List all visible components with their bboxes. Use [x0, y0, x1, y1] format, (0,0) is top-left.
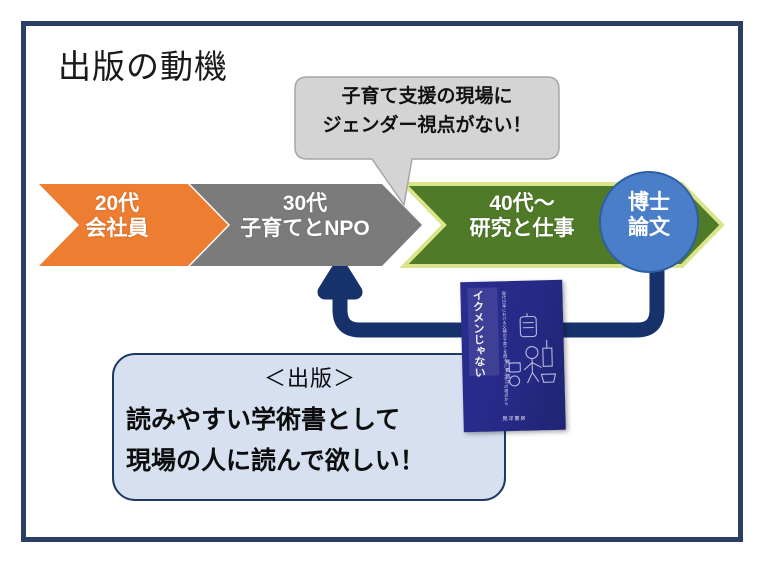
chevron-label-20s-line2: 会社員 — [52, 217, 182, 242]
chevron-label-30s: 30代 子育てとNPO — [210, 192, 400, 242]
book-title: イクメンじゃない — [469, 290, 485, 376]
chevron-label-40s-line2: 研究と仕事 — [432, 217, 612, 242]
book-title-main: イクメンじゃない — [471, 290, 485, 378]
chevron-label-30s-line2: 子育てとNPO — [210, 217, 400, 242]
doctoral-thesis-badge-label: 博士 論文 — [604, 190, 694, 240]
publish-callout-text: ＜出版＞ 読みやすい学術書として 現場の人に読んで欲しい！ — [120, 362, 500, 481]
book-cover-image: イクメンじゃない 現代日本における父親の子育てを問う ジェンダーの視点から 巽 … — [460, 280, 566, 432]
book-cover-illustration — [504, 310, 562, 397]
chevron-label-20s-line1: 20代 — [52, 192, 182, 217]
speech-bubble-line1: 子育て支援の現場に — [305, 82, 549, 111]
badge-line2: 論文 — [604, 215, 694, 240]
speech-bubble-line2: ジェンダー視点がない！ — [305, 111, 549, 140]
speech-bubble-text: 子育て支援の現場に ジェンダー視点がない！ — [305, 82, 549, 141]
chevron-label-20s: 20代 会社員 — [52, 192, 182, 242]
chevron-label-30s-line1: 30代 — [210, 192, 400, 217]
badge-line1: 博士 — [604, 190, 694, 215]
publish-heading: ＜出版＞ — [120, 362, 500, 395]
page-title: 出版の動機 — [58, 48, 228, 86]
book-publisher: 晃洋書房 — [463, 414, 565, 423]
chevron-label-40s-line1: 40代〜 — [432, 192, 612, 217]
publish-line1: 読みやすい学術書として — [120, 400, 500, 441]
publish-line2: 現場の人に読んで欲しい！ — [120, 441, 500, 482]
chevron-label-40s: 40代〜 研究と仕事 — [432, 192, 612, 242]
